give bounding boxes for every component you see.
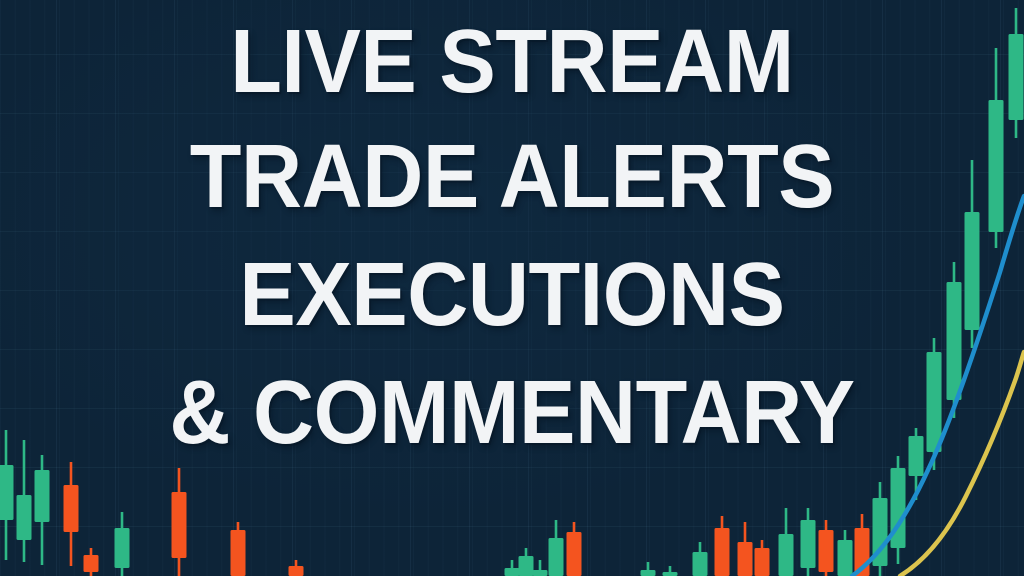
candle-body [84, 555, 99, 572]
candle-body [17, 495, 32, 540]
candle-body [965, 212, 980, 330]
candle-body [0, 465, 14, 520]
promo-graphic: LIVE STREAM TRADE ALERTS EXECUTIONS & CO… [0, 0, 1024, 576]
candle-body [641, 570, 656, 576]
candle-body [819, 530, 834, 572]
candle-body [231, 530, 246, 576]
candle-body [663, 572, 678, 576]
candle-body [115, 528, 130, 568]
candle-body [738, 542, 753, 576]
candle-body [838, 540, 853, 576]
candle-body [715, 528, 730, 576]
candle-body [505, 568, 520, 576]
candle-body [909, 436, 924, 476]
candle-body [567, 532, 582, 576]
candle-body [693, 552, 708, 576]
candle-body [927, 352, 942, 452]
candle-body [801, 520, 816, 568]
candle-body [779, 534, 794, 576]
candle-body [35, 470, 50, 522]
candle-body [947, 282, 962, 400]
candle-body [549, 538, 564, 576]
candle-series [0, 8, 1024, 576]
candle-body [1009, 34, 1024, 120]
candlestick-chart [0, 0, 1024, 576]
candle-body [172, 492, 187, 558]
candle-body [755, 548, 770, 576]
candle-body [64, 485, 79, 532]
candle-body [533, 570, 548, 576]
candle-body [989, 100, 1004, 232]
candle-body [519, 556, 534, 576]
candle-body [289, 566, 304, 576]
